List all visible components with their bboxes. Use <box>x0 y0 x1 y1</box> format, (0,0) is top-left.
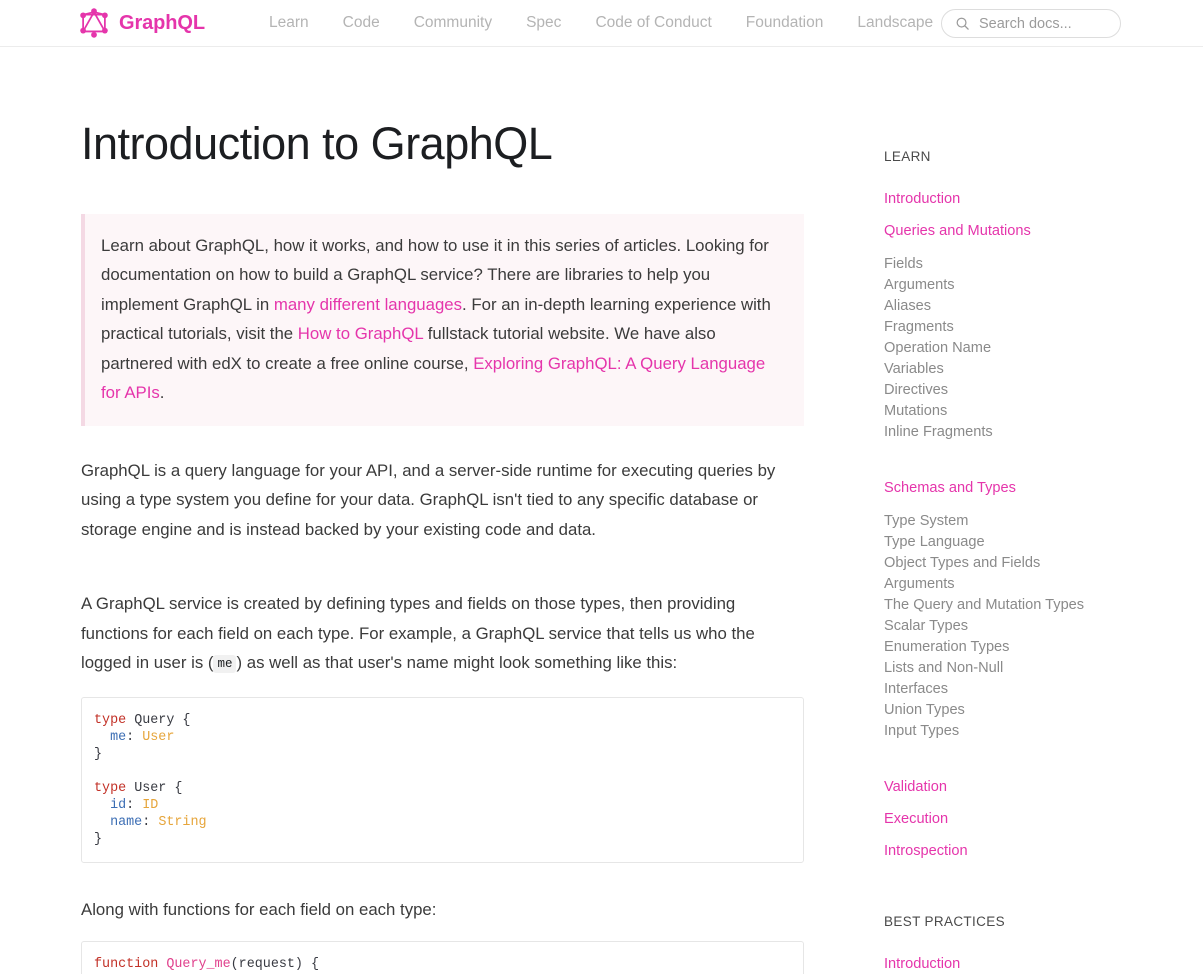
sidebar-group-gap <box>884 742 1120 766</box>
search-input[interactable] <box>979 16 1107 32</box>
sidebar-subitem-variables[interactable]: Variables <box>884 359 1120 380</box>
sidebar-group-gap <box>884 443 1120 467</box>
docs-sidebar: LEARNIntroductionQueries and MutationsFi… <box>860 47 1120 974</box>
sidebar-subitem-arguments[interactable]: Arguments <box>884 574 1120 595</box>
callout-segment-4: . <box>160 383 165 402</box>
page-title: Introduction to GraphQL <box>81 47 860 169</box>
brand-logo-link[interactable]: GraphQL <box>78 7 205 39</box>
sidebar-subitem-mutations[interactable]: Mutations <box>884 401 1120 422</box>
sidebar-subitem-fragments[interactable]: Fragments <box>884 317 1120 338</box>
code-token: Query_me <box>166 957 230 972</box>
sidebar-subitem-arguments[interactable]: Arguments <box>884 275 1120 296</box>
code-token: } <box>94 832 102 847</box>
code-token: } <box>94 747 102 762</box>
sidebar-item-queries-and-mutations[interactable]: Queries and Mutations <box>884 222 1120 240</box>
nav-item-community[interactable]: Community <box>397 14 509 32</box>
sidebar-subitem-operation-name[interactable]: Operation Name <box>884 338 1120 359</box>
intro-callout-text: Learn about GraphQL, how it works, and h… <box>101 231 784 408</box>
page-layout: Introduction to GraphQL Learn about Grap… <box>0 47 1203 974</box>
paragraph-along-with-functions: Along with functions for each field on e… <box>81 895 796 925</box>
code-token: me <box>110 730 126 745</box>
code-token <box>94 798 110 813</box>
sidebar-item-schemas-and-types[interactable]: Schemas and Types <box>884 479 1120 497</box>
sidebar-group: Introspection <box>884 842 1120 860</box>
code-token <box>94 730 110 745</box>
link-many-different-languages[interactable]: many different languages <box>274 295 462 314</box>
sidebar-section-title: LEARN <box>884 149 1120 164</box>
code-token <box>94 815 110 830</box>
code-block-javascript-resolvers-body: function Query_me(request) { return requ… <box>94 956 789 974</box>
sidebar-item-validation[interactable]: Validation <box>884 778 1120 796</box>
code-token: User { <box>126 781 182 796</box>
code-token: type <box>94 781 126 796</box>
sidebar-group: Schemas and TypesType SystemType Languag… <box>884 479 1120 766</box>
sidebar-item-execution[interactable]: Execution <box>884 810 1120 828</box>
sidebar-subitem-enumeration-types[interactable]: Enumeration Types <box>884 637 1120 658</box>
sidebar-section-gap <box>884 874 1120 914</box>
nav-item-spec[interactable]: Spec <box>509 14 578 32</box>
sidebar-subitem-inline-fragments[interactable]: Inline Fragments <box>884 422 1120 443</box>
code-token: function <box>94 957 158 972</box>
code-token: : <box>142 815 158 830</box>
sidebar-subitem-fields[interactable]: Fields <box>884 254 1120 275</box>
paragraph-overview: GraphQL is a query language for your API… <box>81 456 796 545</box>
sidebar-subitem-aliases[interactable]: Aliases <box>884 296 1120 317</box>
sidebar-item-introduction[interactable]: Introduction <box>884 955 1120 973</box>
nav-item-foundation[interactable]: Foundation <box>729 14 841 32</box>
sidebar-subitem-union-types[interactable]: Union Types <box>884 700 1120 721</box>
code-token: name <box>110 815 142 830</box>
primary-nav: Learn Code Community Spec Code of Conduc… <box>252 14 950 32</box>
search-box[interactable] <box>941 9 1121 38</box>
code-token: (request) { <box>231 957 319 972</box>
sidebar-subitem-type-system[interactable]: Type System <box>884 511 1120 532</box>
code-token: : <box>126 798 142 813</box>
nav-item-learn[interactable]: Learn <box>252 14 326 32</box>
link-how-to-graphql[interactable]: How to GraphQL <box>298 324 423 343</box>
sidebar-subitem-directives[interactable]: Directives <box>884 380 1120 401</box>
intro-callout: Learn about GraphQL, how it works, and h… <box>81 214 804 426</box>
sidebar-subitem-input-types[interactable]: Input Types <box>884 721 1120 742</box>
paragraph-service-part-b: ) as well as that user's name might look… <box>236 653 677 672</box>
code-block-graphql-schema-body: type Query { me: User } type User { id: … <box>94 712 789 848</box>
code-token: User <box>142 730 174 745</box>
code-token: type <box>94 713 126 728</box>
site-header: GraphQL Learn Code Community Spec Code o… <box>0 0 1203 47</box>
nav-item-code[interactable]: Code <box>326 14 397 32</box>
search-icon <box>955 16 970 31</box>
code-block-javascript-resolvers: function Query_me(request) { return requ… <box>81 941 804 974</box>
code-token: id <box>110 798 126 813</box>
paragraph-service-definition: A GraphQL service is created by defining… <box>81 589 796 680</box>
sidebar-subitem-interfaces[interactable]: Interfaces <box>884 679 1120 700</box>
sidebar-group: Introduction <box>884 955 1120 973</box>
sidebar-subitem-the-query-and-mutation-types[interactable]: The Query and Mutation Types <box>884 595 1120 616</box>
code-token: ID <box>142 798 158 813</box>
code-token: Query { <box>126 713 190 728</box>
sidebar-subitem-type-language[interactable]: Type Language <box>884 532 1120 553</box>
sidebar-group: Validation <box>884 778 1120 796</box>
brand-name: GraphQL <box>119 12 205 35</box>
code-block-graphql-schema: type Query { me: User } type User { id: … <box>81 697 804 863</box>
code-token: : <box>126 730 142 745</box>
sidebar-subitem-object-types-and-fields[interactable]: Object Types and Fields <box>884 553 1120 574</box>
graphql-logo-icon <box>78 7 110 39</box>
sidebar-group: Execution <box>884 810 1120 828</box>
main-content: Introduction to GraphQL Learn about Grap… <box>0 47 860 974</box>
sidebar-item-introspection[interactable]: Introspection <box>884 842 1120 860</box>
nav-item-landscape[interactable]: Landscape <box>840 14 950 32</box>
sidebar-group: Introduction <box>884 190 1120 208</box>
nav-item-code-of-conduct[interactable]: Code of Conduct <box>578 14 728 32</box>
sidebar-section-title: BEST PRACTICES <box>884 914 1120 929</box>
sidebar-item-introduction[interactable]: Introduction <box>884 190 1120 208</box>
code-token: String <box>158 815 206 830</box>
sidebar-subitem-lists-and-non-null[interactable]: Lists and Non-Null <box>884 658 1120 679</box>
inline-code-me: me <box>213 655 236 673</box>
sidebar-subitem-scalar-types[interactable]: Scalar Types <box>884 616 1120 637</box>
sidebar-group: Queries and MutationsFieldsArgumentsAlia… <box>884 222 1120 467</box>
